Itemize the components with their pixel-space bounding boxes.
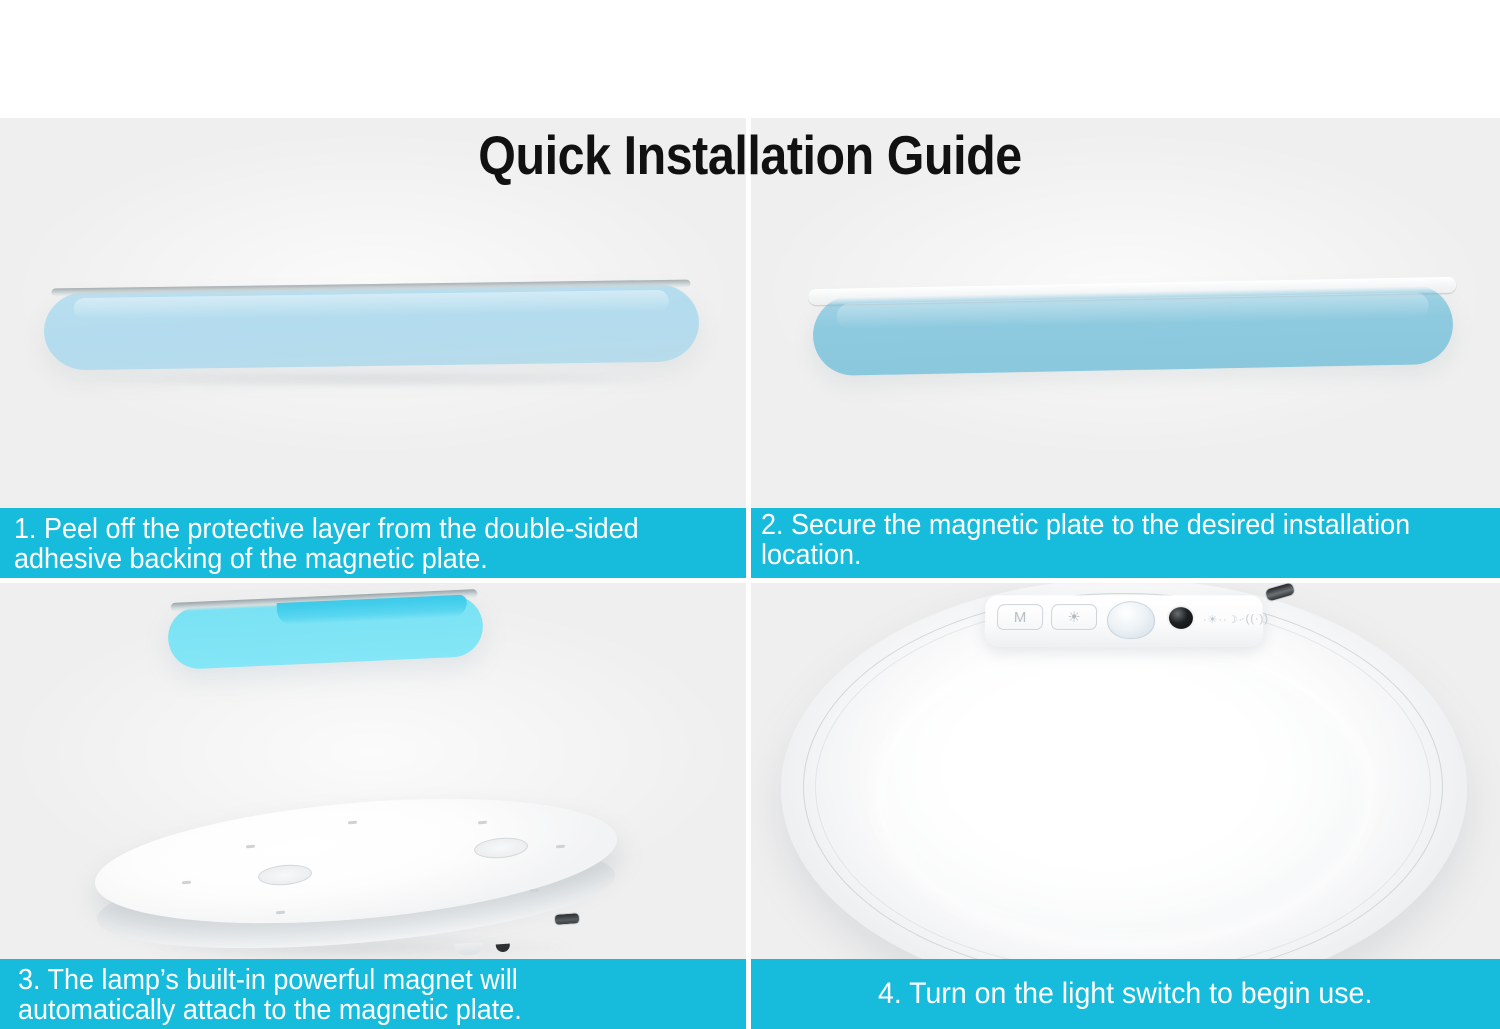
steps-grid: 1. Peel off the protective layer from th…: [0, 118, 1500, 1029]
usb-c-charging-port-icon: [1264, 583, 1297, 603]
lamp-body-back: [86, 793, 626, 959]
installed-ceiling-lamp: M ☀ ·☀· ·☽· ·((·)): [773, 583, 1473, 959]
step-3-image: [0, 583, 746, 959]
usb-c-port-icon: [554, 912, 581, 926]
step-2-caption-text: 2. Secure the magnetic plate to the desi…: [761, 510, 1448, 570]
step-4-image: M ☀ ·☀· ·☽· ·((·)): [751, 583, 1500, 959]
step-3-caption: 3. The lamp’s built-in powerful magnet w…: [0, 959, 746, 1029]
step-2-caption: 2. Secure the magnetic plate to the desi…: [751, 508, 1500, 578]
step-1-caption: 1. Peel off the protective layer from th…: [0, 508, 746, 578]
indicator-icon-3: ·((·)): [1241, 613, 1269, 625]
step-1-caption-text: 1. Peel off the protective layer from th…: [14, 514, 695, 574]
step-panel-2: 2. Secure the magnetic plate to the desi…: [751, 118, 1500, 578]
light-sensor-icon: [1169, 607, 1193, 629]
step-panel-3: 3. The lamp’s built-in powerful magnet w…: [0, 583, 746, 1029]
lamp-diffuser: [877, 643, 1369, 943]
step-3-caption-text: 3. The lamp’s built-in powerful magnet w…: [18, 965, 695, 1025]
step-panel-4: M ☀ ·☀· ·☽· ·((·)) 4. Turn on the light …: [751, 583, 1500, 1029]
magnetic-plate-with-film: [43, 283, 699, 370]
indicator-icon-1: ·☀·: [1203, 613, 1223, 626]
lamp-control-module: M ☀ ·☀· ·☽· ·((·)): [984, 595, 1264, 647]
step-4-caption: 4. Turn on the light switch to begin use…: [751, 959, 1500, 1029]
lamp-back-surface: [90, 780, 622, 941]
step-4-caption-text: 4. Turn on the light switch to begin use…: [878, 979, 1372, 1009]
step-panel-1: 1. Peel off the protective layer from th…: [0, 118, 746, 578]
mode-button[interactable]: M: [997, 604, 1044, 630]
brightness-button[interactable]: ☀: [1051, 604, 1097, 630]
plate-shadow: [70, 370, 680, 388]
magnetic-plate-mounted: [812, 284, 1453, 376]
pir-motion-sensor-icon: [1107, 601, 1155, 639]
magnetic-plate-floating: [167, 594, 484, 670]
installation-guide: Quick Installation Guide 1. Peel off the…: [0, 0, 1500, 1029]
plate-shade: [277, 595, 468, 626]
page-title: Quick Installation Guide: [90, 126, 1410, 184]
